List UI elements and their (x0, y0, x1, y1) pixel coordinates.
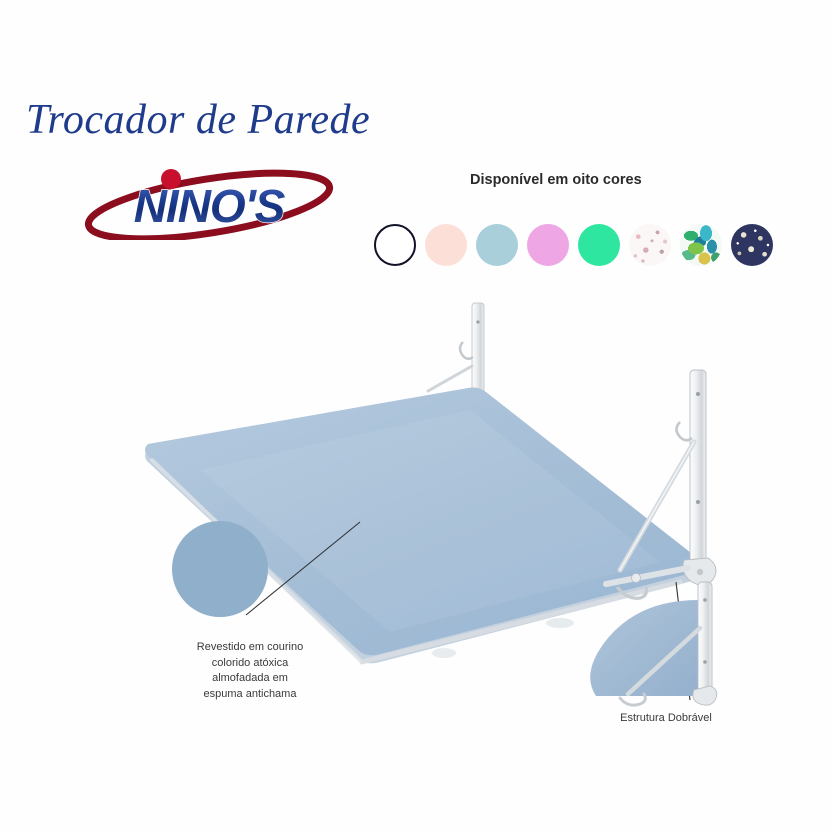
folded-pad (590, 600, 700, 696)
color-swatch-estampa-selva[interactable] (680, 224, 722, 266)
color-swatch-rosa[interactable] (527, 224, 569, 266)
color-swatch-row (374, 224, 773, 266)
color-swatch-estampa-noturna[interactable] (731, 224, 773, 266)
brand-logo: NINO'S (78, 164, 340, 240)
colors-heading: Disponível em oito cores (470, 172, 642, 188)
product-illustration (0, 270, 832, 750)
color-swatch-branco[interactable] (374, 224, 416, 266)
caption-structure: Estrutura Dobrável (566, 711, 766, 727)
caption-material: Revestido em courino colorido atóxica al… (140, 640, 360, 702)
material-callout-swatch (172, 521, 268, 617)
color-swatch-azul-claro[interactable] (476, 224, 518, 266)
color-swatch-terrazzo-branco[interactable] (629, 224, 671, 266)
changing-table-open (142, 303, 716, 674)
page-title: Trocador de Parede (26, 96, 370, 144)
color-swatch-rosa-claro[interactable] (425, 224, 467, 266)
product-image-canvas: Trocador de Parede NINO'S Disponível em … (0, 0, 832, 832)
logo-wordmark: NINO'S (134, 180, 286, 232)
color-swatch-verde-agua[interactable] (578, 224, 620, 266)
